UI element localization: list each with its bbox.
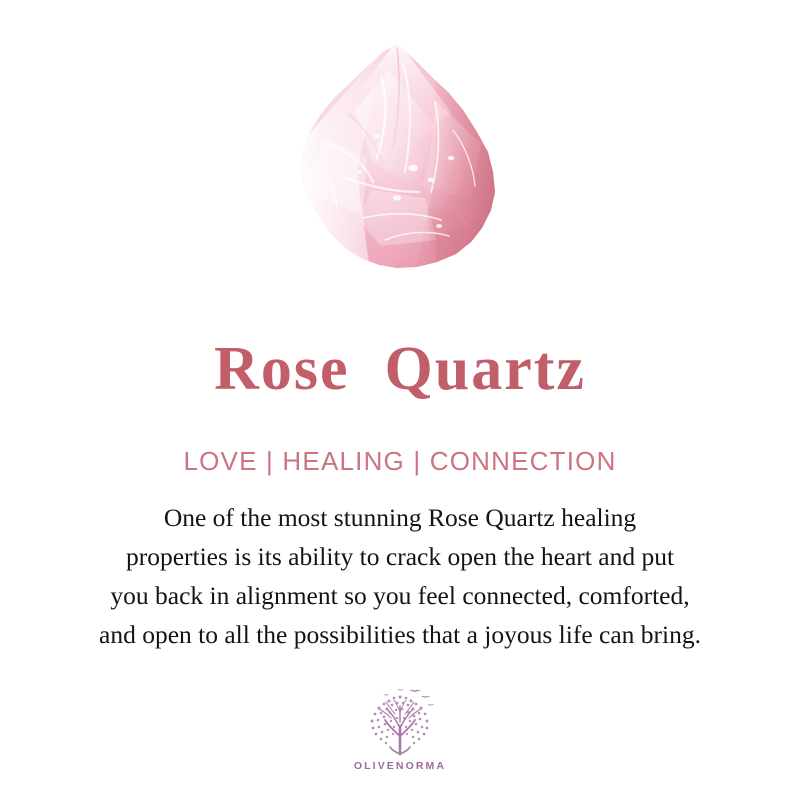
crystal-hero-image: [0, 40, 800, 290]
tree-of-life-icon: [357, 684, 443, 758]
description-line: One of the most stunning Rose Quartz hea…: [30, 498, 770, 537]
description-text: One of the most stunning Rose Quartz hea…: [30, 498, 770, 654]
description-line: you back in alignment so you feel connec…: [30, 576, 770, 615]
keyword-tagline: LOVE | HEALING | CONNECTION: [0, 447, 800, 476]
brand-logo: OLIVENORMA: [0, 684, 800, 772]
tree-trunk-branches: [379, 700, 421, 754]
crystal-inner-glow: [285, 40, 515, 285]
rose-quartz-info-card: Rose Quartz LOVE | HEALING | CONNECTION …: [0, 0, 800, 800]
description-line: and open to all the possibilities that a…: [30, 615, 770, 654]
flying-birds-icon: [383, 689, 434, 706]
brand-name: OLIVENORMA: [354, 760, 446, 772]
rose-quartz-crystal-icon: [285, 40, 515, 285]
page-title: Rose Quartz: [0, 338, 800, 400]
description-line: properties is its ability to crack open …: [30, 537, 770, 576]
